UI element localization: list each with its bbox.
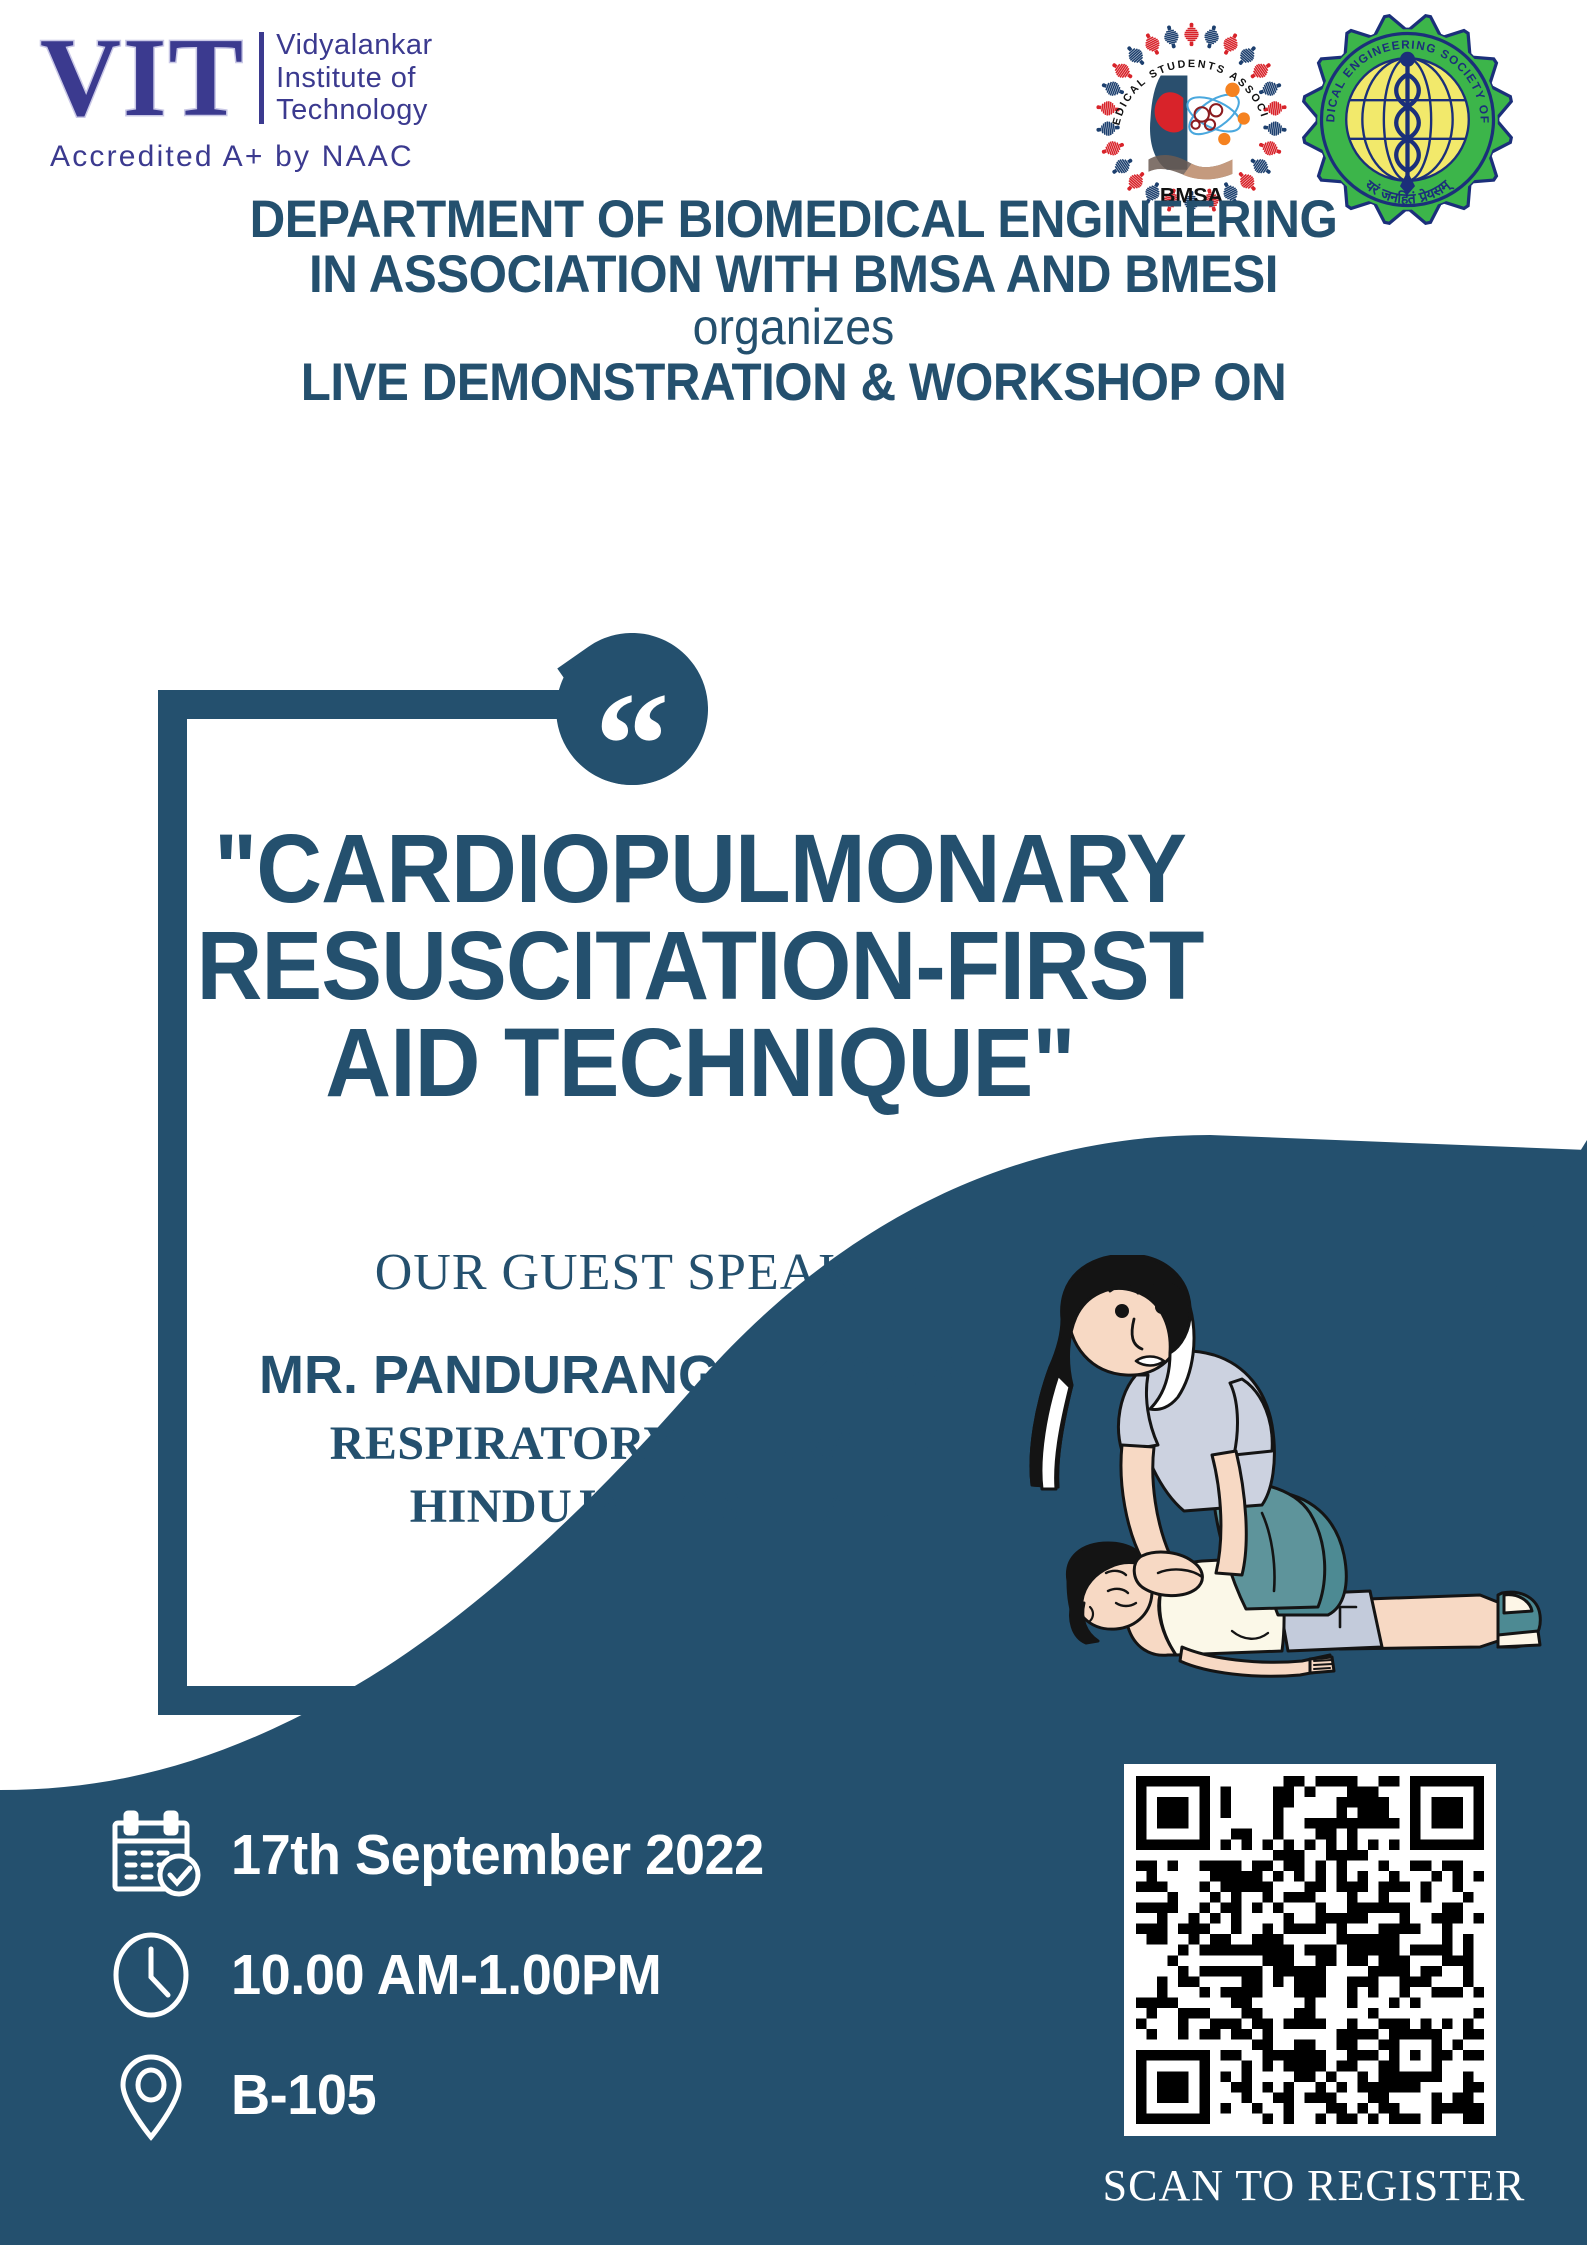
event-time-value: 10.00 AM-1.00PM [231, 1942, 661, 2008]
header-line-department: DEPARTMENT OF BIOMEDICAL ENGINEERING [56, 189, 1532, 250]
title-line-1: "CARDIOPULMONARY [183, 820, 1217, 917]
event-poster: VIT Vidyalankar Institute of Technology … [0, 0, 1587, 2245]
detail-row-venue: B-105 [105, 2040, 865, 2150]
event-date-value: 17th September 2022 [231, 1822, 764, 1888]
speaker-name: MR. PANDURANG TEKAWADE [150, 1344, 1150, 1406]
vit-accreditation-text: Accredited A+ by NAAC [50, 140, 470, 174]
event-details-list: 17th September 2022 10.00 AM-1.00PM B-10… [105, 1800, 865, 2160]
qr-code-canvas[interactable] [1136, 1776, 1484, 2124]
header-line-association: IN ASSOCIATION WITH BMSA AND BMESI [56, 244, 1532, 305]
header-line-event-type: LIVE DEMONSTRATION & WORKSHOP ON [56, 352, 1532, 413]
scan-to-register-label: SCAN TO REGISTER [1064, 2160, 1564, 2211]
speaker-organization: HINDUJA HOSPITAL [150, 1479, 1150, 1534]
header-line-organizes: organizes [56, 298, 1532, 356]
speaker-role: RESPIRATORY THERAPIST [150, 1416, 1150, 1471]
title-line-2: RESUSCITATION-FIRST [183, 917, 1217, 1014]
detail-row-time: 10.00 AM-1.00PM [105, 1920, 865, 2030]
qr-code[interactable] [1124, 1764, 1496, 2136]
detail-row-date: 17th September 2022 [105, 1800, 865, 1910]
calendar-check-icon [105, 1805, 205, 1905]
title-line-3: AID TECHNIQUE" [183, 1014, 1217, 1111]
speaker-block: OUR GUEST SPEAKER MR. PANDURANG TEKAWADE… [150, 1243, 1150, 1534]
clock-icon [105, 1925, 205, 2025]
vit-logo-divider [259, 32, 264, 124]
vit-word-line-2: Institute of [276, 62, 433, 94]
cpr-demonstration-illustration [1010, 1255, 1587, 1690]
vit-logo: VIT Vidyalankar Institute of Technology … [40, 22, 470, 187]
vit-word-line-3: Technology [276, 94, 433, 126]
page-title: "CARDIOPULMONARY RESUSCITATION-FIRST AID… [150, 820, 1250, 1111]
speaker-intro-label: OUR GUEST SPEAKER [150, 1243, 1150, 1302]
vit-logo-wordmark: Vidyalankar Institute of Technology [276, 29, 433, 126]
vit-logo-letters: VIT [40, 22, 245, 134]
vit-word-line-1: Vidyalankar [276, 29, 433, 61]
event-venue-value: B-105 [231, 2062, 376, 2128]
quote-badge-icon [556, 633, 708, 785]
location-pin-icon [105, 2045, 205, 2145]
